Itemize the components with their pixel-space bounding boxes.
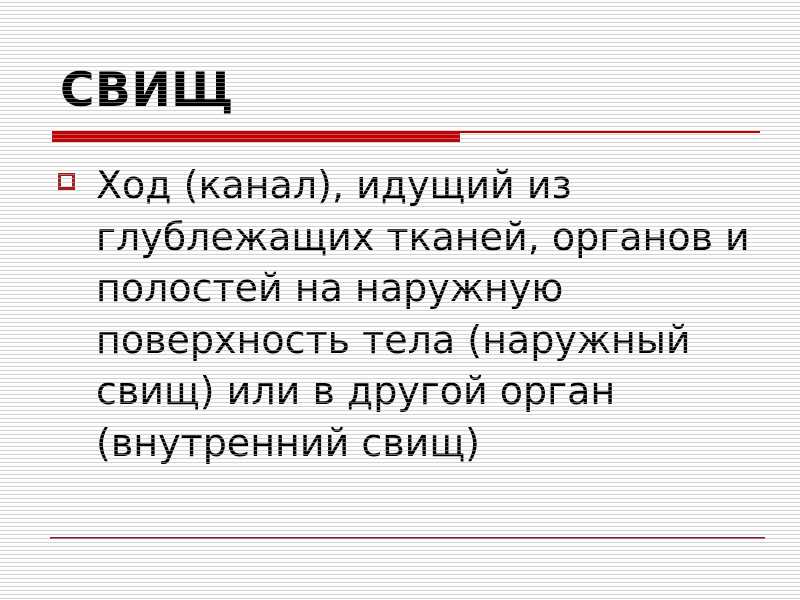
slide-canvas: СВИЩ Ход (канал), идущий из глублежащих …: [0, 0, 800, 600]
slide-title: СВИЩ: [60, 62, 760, 120]
slide-body: Ход (канал), идущий из глублежащих ткане…: [56, 160, 756, 469]
title-underline-thick: [52, 132, 460, 142]
footer-divider: [50, 537, 765, 539]
bullet-list-item: Ход (канал), идущий из глублежащих ткане…: [56, 160, 756, 469]
bullet-item-text: Ход (канал), идущий из глублежащих ткане…: [56, 160, 756, 469]
hollow-square-bullet-icon: [58, 173, 75, 190]
